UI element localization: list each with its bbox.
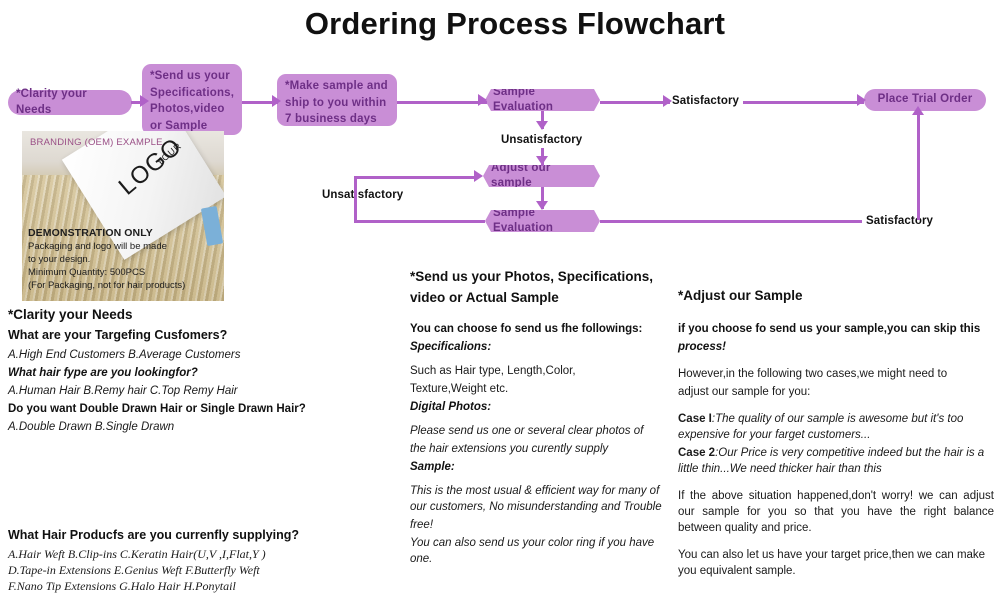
connector-satisfactory-to-order — [743, 101, 864, 104]
flow-label-unsatisfactory-left: Unsatisfactory — [322, 189, 403, 201]
demo-line-1: Packaging and logo will be made — [28, 241, 167, 252]
arrow-icon-down-eval2 — [536, 201, 548, 210]
products-line-2: D.Tape-in Extensions E.Genius Weft F.But… — [8, 562, 400, 578]
demo-line-2: to your design. — [28, 254, 90, 265]
flow-node-sample-eval-2[interactable]: Sample Evaluation — [485, 210, 600, 232]
however-line-2: adjust our sample for you: — [678, 384, 994, 400]
flow-node-clarify[interactable]: *Clarity your Needs — [8, 90, 132, 115]
arrow-icon-loop-to-adjust — [474, 170, 483, 182]
flow-node-adjust-sample[interactable]: Adjust our sample — [483, 165, 600, 187]
clarify-question-2: What hair fype are you lookingfor? — [8, 365, 400, 381]
demo-title: DEMONSTRATION ONLY — [28, 227, 153, 239]
case-2-label: Case 2 — [678, 447, 715, 459]
flow-node-make-sample[interactable]: *Make sample and ship to you within 7 bu… — [277, 74, 397, 126]
branding-example-photo: YOUR LOGO BRANDING (OEM) EXAMPLE DEMONST… — [22, 131, 224, 301]
column-adjust-sample: *Adjust our Sample if you choose fo send… — [678, 286, 994, 581]
send-photos-heading: *Send us your Photos, Specifications, vi… — [410, 266, 672, 308]
adjust-sample-heading: *Adjust our Sample — [678, 286, 994, 305]
demo-line-4: (For Packaging, not for hair products) — [28, 280, 185, 291]
arrow-icon-to-specs — [140, 95, 149, 107]
however-line-1: However,in the following two cases,we mi… — [678, 366, 994, 382]
arrow-icon-to-eval1 — [478, 94, 487, 106]
column-clarify-needs: *Clarity your Needs What are your Targef… — [8, 306, 400, 437]
flow-node-send-specs[interactable]: *Send us your Specifications, Photos,vid… — [142, 64, 242, 135]
clarify-question-1: What are your Targefing Cusfomers? — [8, 327, 400, 343]
specifications-body-1: Such as Hair type, Length,Color, — [410, 363, 672, 379]
arrow-icon-to-place-order — [857, 94, 866, 106]
send-photos-intro: You can choose fo send us fhe followings… — [410, 321, 672, 337]
specifications-body-2: Texture,Weight etc. — [410, 381, 672, 397]
connector-eval1-to-satisfactory — [600, 101, 670, 104]
products-heading: What Hair Producfs are you currenfly sup… — [8, 527, 400, 543]
sample-body-3: You can also send us your color ring if … — [410, 535, 672, 567]
digital-photos-body-1: Please send us one or several clear phot… — [410, 423, 672, 439]
flow-label-unsatisfactory-top: Unsatisfactory — [501, 134, 582, 146]
sample-body-2: free! — [410, 517, 672, 533]
skip-note-1: if you choose fo send us your sample,you… — [678, 321, 994, 337]
clarify-question-3: Do you want Double Drawn Hair or Single … — [8, 401, 400, 417]
flow-label-satisfactory-top: Satisfactory — [672, 95, 739, 107]
demonstration-note: DEMONSTRATION ONLY Packaging and logo wi… — [28, 227, 220, 292]
adjust-paragraph-2: You can also let us have your target pri… — [678, 547, 994, 579]
flow-node-sample-eval-1[interactable]: Sample Evaluation — [485, 89, 600, 111]
flow-node-place-order[interactable]: Place Trial Order — [864, 89, 986, 111]
digital-photos-body-2: the hair extensions you curently supply — [410, 441, 672, 457]
sample-body-1: This is the most usual & efficient way f… — [410, 483, 672, 515]
connector-loop-to-adjust — [354, 176, 477, 179]
arrow-icon-down-adjust — [536, 156, 548, 165]
products-line-1: A.Hair Weft B.Clip-ins C.Keratin Hair(U,… — [8, 546, 400, 562]
arrow-icon-down-unsatisfactory — [536, 121, 548, 130]
clarify-heading: *Clarity your Needs — [8, 306, 400, 323]
column-hair-products: What Hair Producfs are you currenfly sup… — [8, 527, 400, 594]
demo-line-3: Minimum Quantity: 500PCS — [28, 267, 145, 278]
digital-photos-label: Digital Photos: — [410, 399, 672, 415]
connector-eval2-right — [600, 220, 862, 223]
adjust-paragraph-1: If the above situation happened,don't wo… — [678, 488, 994, 536]
case-2: Case 2:Our Price is very competitive ind… — [678, 445, 994, 477]
sample-label: Sample: — [410, 459, 672, 475]
clarify-answer-2: A.Human Hair B.Remy hair C.Top Remy Hair — [8, 383, 400, 399]
connector-make-to-eval1 — [397, 101, 487, 104]
case-1-text: :The quality of our sample is awesome bu… — [678, 413, 963, 441]
arrow-icon-to-make — [272, 95, 281, 107]
skip-note-2: process! — [678, 339, 994, 355]
connector-loop-up — [354, 176, 357, 223]
specifications-label: Specificalions: — [410, 339, 672, 355]
case-2-text: :Our Price is very competitive indeed bu… — [678, 447, 984, 475]
clarify-answer-3: A.Double Drawn B.Single Drawn — [8, 419, 400, 435]
flow-label-satisfactory-bottom: Satisfactory — [866, 215, 933, 227]
case-1-label: Case I — [678, 413, 712, 425]
case-1: Case I:The quality of our sample is awes… — [678, 411, 994, 443]
column-send-photos: *Send us your Photos, Specifications, vi… — [410, 266, 672, 569]
clarify-answer-1: A.High End Customers B.Average Customers — [8, 347, 400, 363]
page-title: Ordering Process Flowchart — [0, 6, 1000, 42]
branding-caption: BRANDING (OEM) EXAMPLE — [30, 137, 163, 148]
connector-satisfactory-up — [917, 113, 920, 220]
arrow-icon-up-place-order — [912, 106, 924, 115]
flowchart-page: Ordering Process Flowchart *Clarity your… — [0, 0, 1000, 597]
arrow-icon-to-satisfactory-top — [663, 95, 672, 107]
products-line-3: F.Nano Tip Extensions G.Halo Hair H.Pony… — [8, 578, 400, 594]
connector-eval2-left — [354, 220, 485, 223]
